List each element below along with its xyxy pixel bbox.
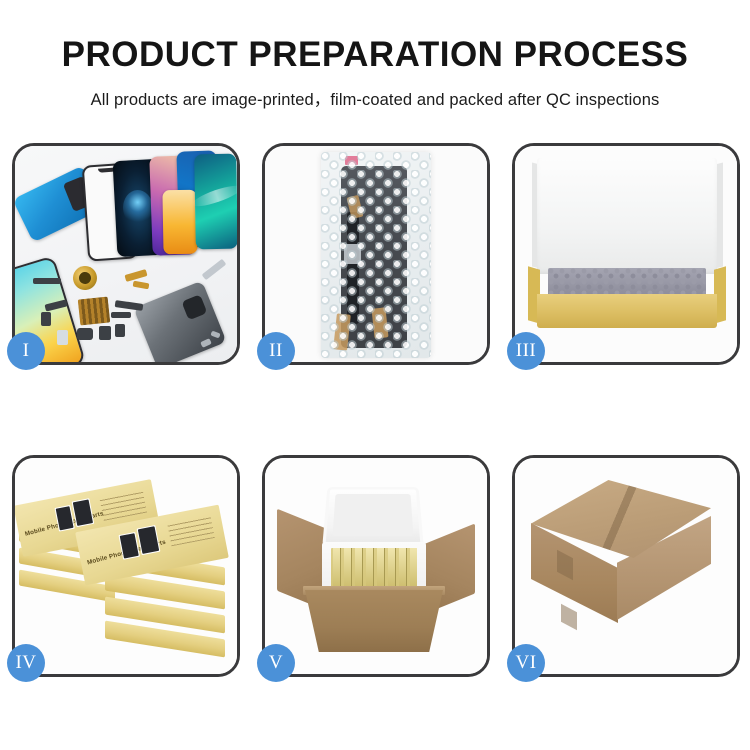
process-step-panel-2: II <box>262 143 490 365</box>
box-artwork-screen <box>54 505 74 532</box>
phone-screen-orange <box>162 190 197 255</box>
step-badge-1: I <box>7 332 45 370</box>
step-6-photo <box>515 458 737 674</box>
step-badge-4: IV <box>7 644 45 682</box>
step-2-photo <box>265 146 487 362</box>
product-preparation-process-infographic: PRODUCT PREPARATION PROCESS All products… <box>0 0 750 750</box>
process-step-panel-6: VI <box>512 455 740 677</box>
step-badge-2: II <box>257 332 295 370</box>
bubble-wrap-bag <box>321 152 431 358</box>
step-badge-5: V <box>257 644 295 682</box>
spare-part-antenna <box>111 312 131 318</box>
spare-part-camera-module <box>77 328 93 340</box>
page-title: PRODUCT PREPARATION PROCESS <box>0 0 750 75</box>
chip-grid-part <box>78 297 111 326</box>
step-badge-3: III <box>507 332 545 370</box>
spare-part-sim-tray <box>57 330 68 345</box>
header: PRODUCT PREPARATION PROCESS All products… <box>0 0 750 110</box>
phone-screen-teal <box>194 154 237 250</box>
process-step-panel-5: V <box>262 455 490 677</box>
step-badge-6: VI <box>507 644 545 682</box>
bubble-wrap-texture <box>321 152 431 358</box>
process-step-panel-3: III <box>512 143 740 365</box>
step-5-photo <box>265 458 487 674</box>
carton-front-panel <box>305 590 443 652</box>
step-4-photo: Mobile Phone Spare Parts Mobile Phone Sp… <box>15 458 237 674</box>
box-stack: Mobile Phone Spare Parts Mobile Phone Sp… <box>17 486 235 666</box>
process-step-panel-1: I <box>12 143 240 365</box>
spare-part-strip <box>33 278 61 284</box>
box-spec-lines <box>167 514 215 546</box>
page-subtitle: All products are image-printed，film-coat… <box>0 75 750 110</box>
process-step-panel-4: Mobile Phone Spare Parts Mobile Phone Sp… <box>12 455 240 677</box>
box-artwork-screen <box>72 498 95 527</box>
spare-part-sensor <box>115 324 125 337</box>
box-spec-lines <box>99 489 147 521</box>
box-artwork-screen <box>137 525 161 555</box>
spare-part-speaker <box>99 326 111 340</box>
box-lid-open <box>537 158 717 274</box>
step-3-photo <box>515 146 737 362</box>
foam-box-lid <box>322 487 423 546</box>
step-1-photo <box>15 146 237 362</box>
spare-part-small-block <box>41 312 51 326</box>
box-front-panel <box>537 294 717 328</box>
process-steps-grid: I II <box>12 143 738 683</box>
box-artwork-screen <box>119 532 140 560</box>
packed-yellow-boxes <box>331 548 417 590</box>
